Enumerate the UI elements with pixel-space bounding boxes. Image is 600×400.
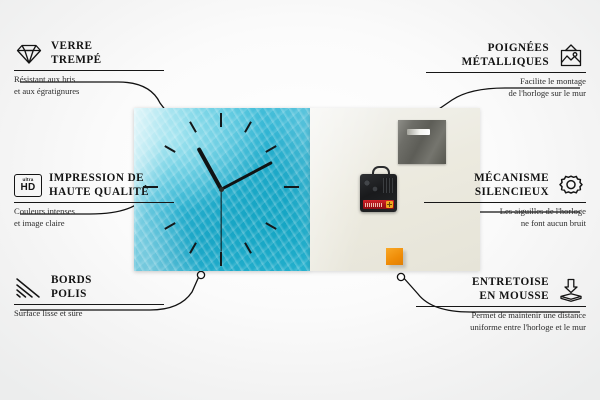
feature-subtitle-line1: Couleurs intenses — [14, 206, 174, 218]
connector-dot-bords-polis — [197, 271, 204, 278]
feature-title-line2: EN MOUSSE — [472, 290, 549, 304]
feature-title-line1: ENTRETOISE — [472, 276, 549, 290]
feature-mecanisme-silencieux: MÉCANISME SILENCIEUX Les aiguilles de l'… — [424, 172, 586, 229]
feature-title: ENTRETOISE EN MOUSSE — [472, 276, 549, 303]
feature-header: MÉCANISME SILENCIEUX — [424, 172, 586, 199]
feature-divider — [416, 306, 586, 307]
foam-spacer-icon — [556, 277, 586, 303]
feature-subtitle-line1: Résistant aux bris — [14, 74, 164, 86]
feature-impression-haute-qualite: ultra HD IMPRESSION DE HAUTE QUALITÉ Cou… — [14, 172, 174, 229]
ultra-hd-icon-main-text: HD — [20, 183, 35, 193]
feature-title-line1: IMPRESSION DE — [49, 172, 149, 186]
battery-label — [365, 203, 383, 207]
hanging-frame-icon — [556, 43, 586, 69]
feature-title-line1: VERRE — [51, 40, 102, 54]
feature-subtitle-line2: uniforme entre l'horloge et le mur — [416, 322, 586, 334]
feature-verre-trempe: VERRE TREMPÉ Résistant aux bris et aux é… — [14, 40, 164, 97]
aa-battery — [363, 200, 394, 209]
feature-poignees-metalliques: POIGNÉES MÉTALLIQUES Facilite le montage… — [426, 42, 586, 99]
tick-3 — [284, 186, 299, 188]
feature-subtitle: Résistant aux bris et aux égratignures — [14, 74, 164, 97]
polished-edge-icon — [14, 276, 44, 300]
feature-title: POIGNÉES MÉTALLIQUES — [462, 42, 549, 69]
feature-subtitle-line2: de l'horloge sur le mur — [426, 88, 586, 100]
feature-subtitle: Couleurs intenses et image claire — [14, 206, 174, 229]
feature-subtitle-line1: Permet de maintenir une distance — [416, 310, 586, 322]
feature-header: POIGNÉES MÉTALLIQUES — [426, 42, 586, 69]
feature-title-line2: TREMPÉ — [51, 54, 102, 68]
feature-header: ENTRETOISE EN MOUSSE — [416, 276, 586, 303]
infographic-canvas: VERRE TREMPÉ Résistant aux bris et aux é… — [0, 0, 600, 400]
tick-6 — [220, 252, 222, 266]
bracket-keyhole-slot — [407, 129, 430, 135]
feature-title: MÉCANISME SILENCIEUX — [474, 172, 549, 199]
feature-subtitle: Les aiguilles de l'horloge ne font aucun… — [424, 206, 586, 229]
feature-subtitle-line1: Les aiguilles de l'horloge — [424, 206, 586, 218]
feature-subtitle-line2: ne font aucun bruit — [424, 218, 586, 230]
mechanism-ridges — [383, 178, 394, 193]
metal-hanger-bracket — [398, 120, 446, 164]
tick-12 — [220, 113, 222, 127]
feature-title-line1: POIGNÉES — [462, 42, 549, 56]
feature-divider — [14, 304, 164, 305]
battery-plus-terminal — [386, 201, 393, 208]
feature-title-line2: POLIS — [51, 288, 92, 302]
hands-center-cap — [219, 187, 224, 192]
feature-subtitle-line1: Facilite le montage — [426, 76, 586, 88]
feature-header: ultra HD IMPRESSION DE HAUTE QUALITÉ — [14, 172, 174, 199]
feature-subtitle: Surface lisse et sûre — [14, 308, 164, 320]
feature-subtitle-line2: et image claire — [14, 218, 174, 230]
connector-dot-entretoise — [397, 273, 404, 280]
feature-divider — [14, 70, 164, 71]
feature-subtitle: Permet de maintenir une distance uniform… — [416, 310, 586, 333]
feature-header: BORDS POLIS — [14, 274, 164, 301]
feature-entretoise-en-mousse: ENTRETOISE EN MOUSSE Permet de maintenir… — [416, 276, 586, 333]
feature-subtitle-line2: et aux égratignures — [14, 86, 164, 98]
second-hand — [220, 189, 221, 251]
feature-subtitle: Facilite le montage de l'horloge sur le … — [426, 76, 586, 99]
feature-title-line2: SILENCIEUX — [474, 186, 549, 200]
feature-title-line2: HAUTE QUALITÉ — [49, 186, 149, 200]
feature-title: BORDS POLIS — [51, 274, 92, 301]
feature-title: IMPRESSION DE HAUTE QUALITÉ — [49, 172, 149, 199]
quartz-mechanism — [360, 174, 397, 212]
ultra-hd-icon: ultra HD — [14, 174, 42, 197]
feature-title-line1: BORDS — [51, 274, 92, 288]
feature-bords-polis: BORDS POLIS Surface lisse et sûre — [14, 274, 164, 320]
diamond-icon — [14, 42, 44, 66]
feature-divider — [426, 72, 586, 73]
gear-icon — [556, 173, 586, 199]
foam-spacer — [386, 248, 403, 265]
feature-title-line1: MÉCANISME — [474, 172, 549, 186]
mechanism-dials — [363, 178, 381, 194]
feature-title-line2: MÉTALLIQUES — [462, 56, 549, 70]
feature-subtitle-line1: Surface lisse et sûre — [14, 308, 164, 320]
feature-divider — [424, 202, 586, 203]
feature-title: VERRE TREMPÉ — [51, 40, 102, 67]
feature-header: VERRE TREMPÉ — [14, 40, 164, 67]
feature-divider — [14, 202, 174, 203]
